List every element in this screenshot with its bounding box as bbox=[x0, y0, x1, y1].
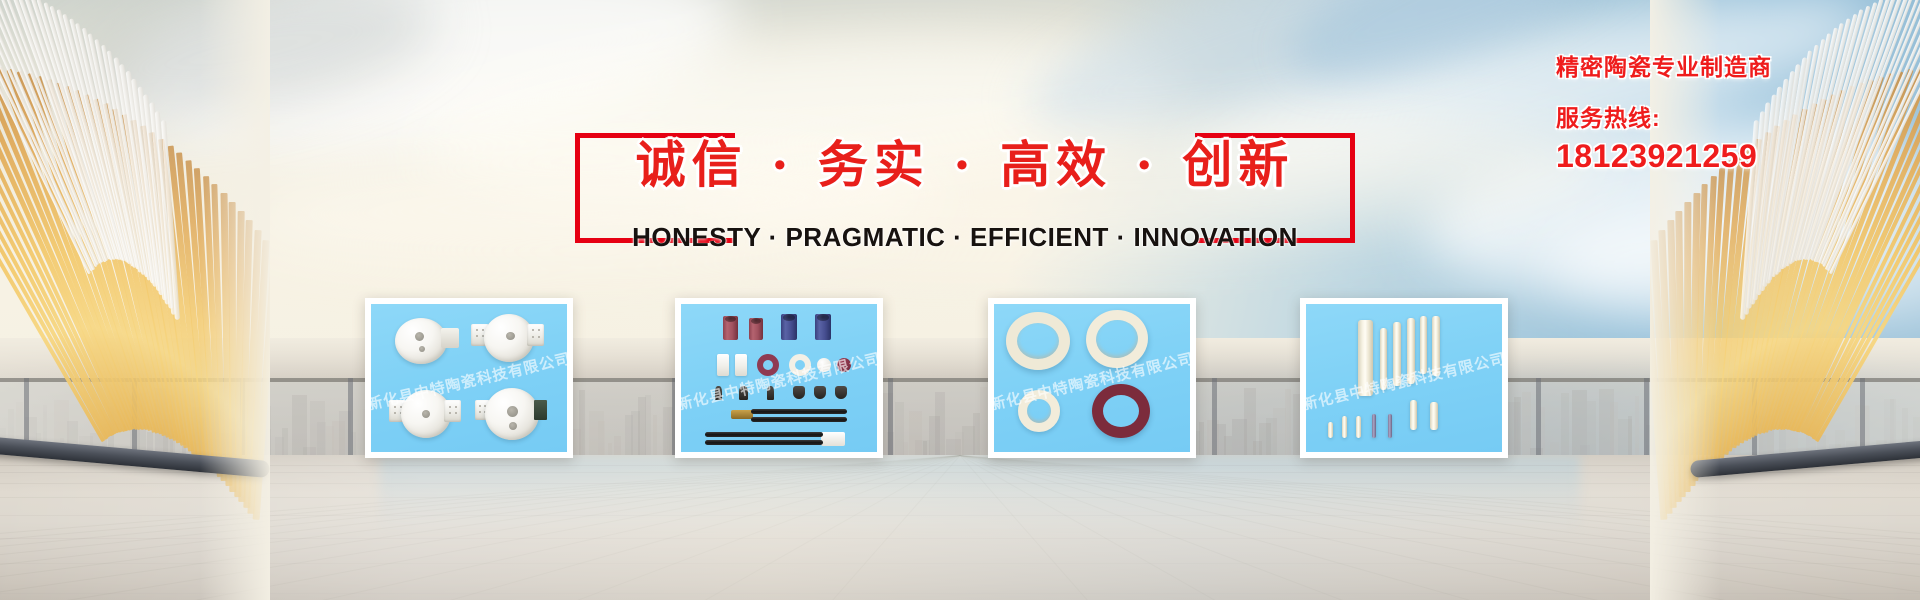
metal-terminal bbox=[534, 400, 547, 420]
ceramic-ring-white bbox=[789, 354, 811, 376]
railing-post bbox=[1644, 378, 1649, 460]
panel-3-photo: 新化县中特陶瓷科技有限公司 bbox=[994, 304, 1190, 452]
ceramic-button-white bbox=[817, 358, 831, 372]
ceramic-plate bbox=[717, 354, 729, 376]
ceramic-rod bbox=[1407, 318, 1415, 384]
slogan-chinese: 诚信 · 务实 · 高效 · 创新 bbox=[575, 125, 1355, 197]
ceramic-tube-red bbox=[749, 318, 763, 340]
hero-banner: 新化县中特陶瓷科技有限公司 bbox=[0, 0, 1920, 600]
holder-tab bbox=[444, 400, 461, 422]
metal-clip bbox=[739, 386, 748, 400]
slogan-english: HONESTY · PRAGMATIC · EFFICIENT · INNOVA… bbox=[575, 222, 1355, 253]
floor-sheen bbox=[0, 455, 1920, 600]
skyline-horizon-fade bbox=[0, 338, 1920, 380]
ceramic-rod-short bbox=[1430, 402, 1438, 430]
product-panel-lamp-holders[interactable]: 新化县中特陶瓷科技有限公司 bbox=[365, 298, 573, 458]
ceramic-tube-blue bbox=[815, 314, 831, 340]
ceramic-lamp-holder bbox=[485, 388, 539, 440]
left-canopy bbox=[0, 0, 270, 600]
panel-4-photo: 新化县中特陶瓷科技有限公司 bbox=[1306, 304, 1502, 452]
ceramic-pin-violet bbox=[1372, 414, 1376, 438]
ceramic-ring-large bbox=[1006, 312, 1070, 370]
brass-connector bbox=[731, 410, 753, 419]
ceramic-pin bbox=[1342, 416, 1347, 438]
company-tagline: 精密陶瓷专业制造商 bbox=[1556, 48, 1886, 82]
panel-4-watermark: 新化县中特陶瓷科技有限公司 bbox=[1306, 347, 1502, 414]
hotline-phone-number[interactable]: 18123921259 bbox=[1556, 138, 1886, 175]
wire-lead bbox=[705, 440, 823, 445]
ceramic-ring-small bbox=[1018, 390, 1060, 432]
product-panel-rods[interactable]: 新化县中特陶瓷科技有限公司 bbox=[1300, 298, 1508, 458]
panel-1-photo: 新化县中特陶瓷科技有限公司 bbox=[371, 304, 567, 452]
ceramic-rod bbox=[1380, 328, 1387, 390]
product-panel-rings[interactable]: 新化县中特陶瓷科技有限公司 bbox=[988, 298, 1196, 458]
ceramic-rod-short bbox=[1410, 400, 1417, 430]
terrace-floor: 新化县中特陶瓷科技有限公司 bbox=[0, 455, 1920, 600]
wire-lead bbox=[751, 417, 847, 422]
ceramic-rod-large bbox=[1358, 320, 1373, 396]
panel-2-watermark: 新化县中特陶瓷科技有限公司 bbox=[681, 347, 877, 414]
ceramic-tube-red bbox=[723, 316, 738, 340]
ceramic-ring-dark-red bbox=[1092, 384, 1150, 438]
slogan-block: 诚信 · 务实 · 高效 · 创新 HONESTY · PRAGMATIC · … bbox=[575, 133, 1355, 243]
ceramic-pin bbox=[1328, 422, 1333, 438]
railing-post bbox=[1212, 378, 1217, 460]
railing-post bbox=[1536, 378, 1541, 460]
holder-tab bbox=[527, 324, 544, 346]
railing-glass-panel bbox=[0, 378, 1920, 460]
white-connector-block bbox=[821, 432, 845, 446]
ceramic-plate bbox=[735, 354, 747, 376]
ceramic-tube-blue bbox=[781, 314, 797, 340]
railing-post bbox=[888, 378, 893, 460]
holder-body bbox=[441, 328, 459, 348]
ceramic-ring-large bbox=[1082, 306, 1151, 372]
ceramic-pin-violet bbox=[1388, 414, 1392, 438]
panel-2-photo: 新化县中特陶瓷科技有限公司 bbox=[681, 304, 877, 452]
ceramic-rod bbox=[1420, 316, 1427, 374]
wire-lead bbox=[751, 409, 847, 414]
ceramic-ring-red bbox=[757, 354, 779, 376]
metal-clip bbox=[814, 386, 826, 399]
railing-post bbox=[348, 378, 353, 460]
metal-clip bbox=[715, 386, 722, 400]
ceramic-lamp-holder bbox=[395, 318, 447, 364]
ceramic-rod bbox=[1393, 322, 1401, 386]
metal-clip bbox=[793, 386, 805, 399]
metal-clip bbox=[835, 386, 847, 399]
product-panel-tubes-and-wires[interactable]: 新化县中特陶瓷科技有限公司 bbox=[675, 298, 883, 458]
ceramic-button-red bbox=[837, 358, 851, 372]
wire-lead bbox=[705, 432, 823, 437]
hotline-label: 服务热线: bbox=[1556, 99, 1886, 133]
railing-handrail bbox=[0, 378, 1920, 382]
contact-block: 精密陶瓷专业制造商 服务热线: 18123921259 bbox=[1556, 48, 1886, 175]
ceramic-rod bbox=[1432, 316, 1440, 376]
ceramic-pin bbox=[1356, 416, 1361, 438]
metal-clip bbox=[767, 386, 774, 400]
glass-railing bbox=[0, 378, 1920, 460]
